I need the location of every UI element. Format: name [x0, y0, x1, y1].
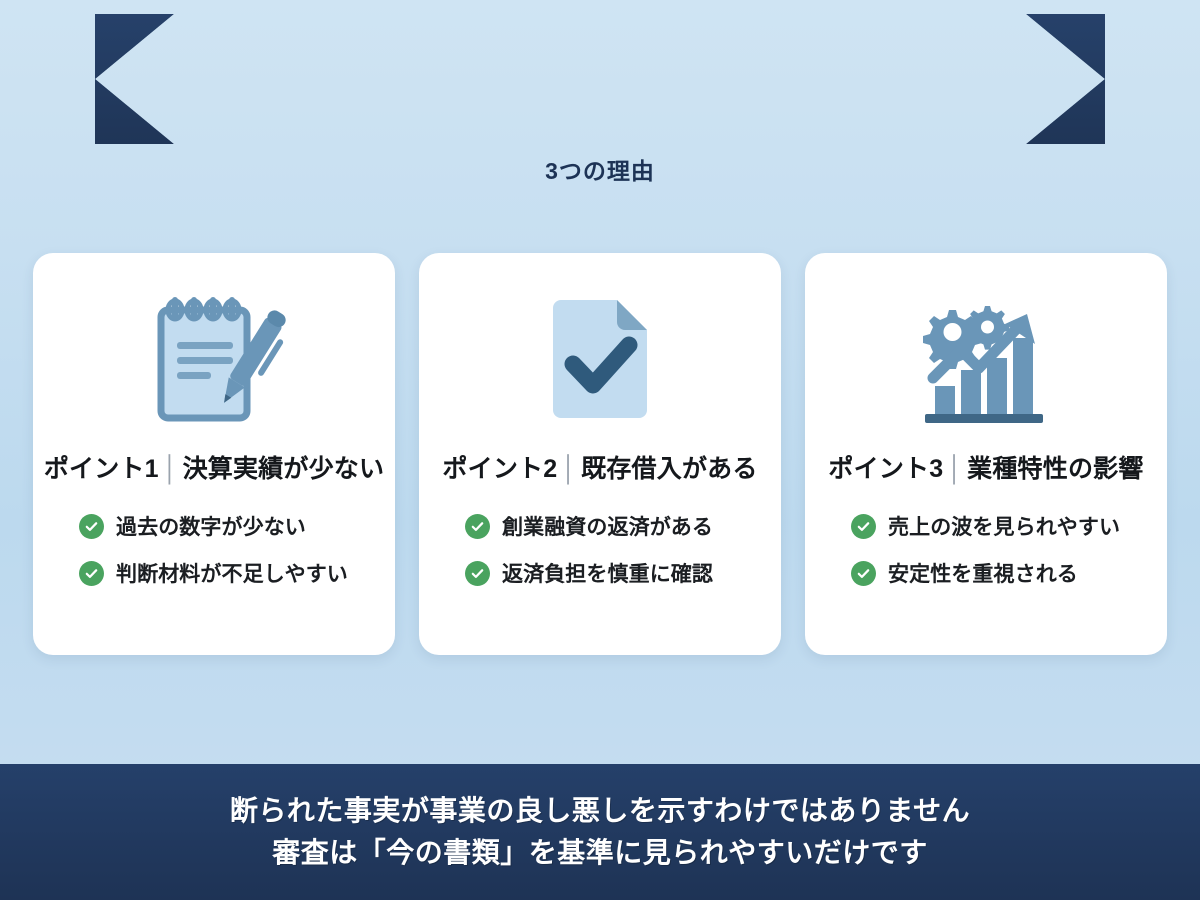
cards-row: ポイント1│決算実績が少ない 過去の数字が少ない 判断材料が不足しやすい: [33, 253, 1167, 655]
check-circle-icon: [465, 561, 490, 586]
list-item: 判断材料が不足しやすい: [79, 558, 377, 588]
card-2-heading: ポイント2│既存借入がある: [442, 449, 757, 485]
card-2-label: ポイント2: [442, 455, 557, 483]
check-circle-icon: [851, 514, 876, 539]
card-point-3: ポイント3│業種特性の影響 売上の波を見られやすい 安定性を重視される: [805, 253, 1167, 655]
title-line-1: 創業したばかりの会社が、: [357, 25, 843, 79]
card-2-title: 既存借入がある: [581, 455, 757, 483]
card-3-separator: │: [943, 455, 967, 483]
card-1-separator: │: [159, 455, 183, 483]
list-item: 安定性を重視される: [851, 558, 1149, 588]
check-circle-icon: [851, 561, 876, 586]
card-1-heading: ポイント1│決算実績が少ない: [44, 449, 384, 485]
footer-line-1: 断られた事実が事業の良し悪しを示すわけではありません: [230, 790, 970, 832]
card-1-title: 決算実績が少ない: [183, 455, 385, 483]
list-item: 返済負担を慎重に確認: [465, 558, 763, 588]
card-1-label: ポイント1: [44, 455, 159, 483]
subtitle: 3つの理由: [0, 152, 1200, 186]
bullet-text: 返済負担を慎重に確認: [502, 558, 713, 588]
document-check-icon: [525, 279, 675, 447]
title-banner: 創業したばかりの会社が、 銀行や信販のローンに通りにくい理由とは: [95, 14, 1105, 144]
title-line-2: 銀行や信販のローンに通りにくい理由とは: [217, 79, 984, 133]
check-circle-icon: [79, 561, 104, 586]
list-item: 創業融資の返済がある: [465, 511, 763, 541]
card-2-bullets: 創業融資の返済がある 返済負担を慎重に確認: [437, 511, 763, 588]
bullet-text: 創業融資の返済がある: [502, 511, 713, 541]
bullet-text: 過去の数字が少ない: [116, 511, 306, 541]
list-item: 売上の波を見られやすい: [851, 511, 1149, 541]
card-3-label: ポイント3: [828, 455, 943, 483]
bullet-text: 売上の波を見られやすい: [888, 511, 1120, 541]
card-2-separator: │: [557, 455, 581, 483]
card-3-heading: ポイント3│業種特性の影響: [828, 449, 1143, 485]
check-circle-icon: [465, 514, 490, 539]
card-3-title: 業種特性の影響: [967, 455, 1143, 483]
card-3-bullets: 売上の波を見られやすい 安定性を重視される: [823, 511, 1149, 588]
bullet-text: 安定性を重視される: [888, 558, 1078, 588]
growth-chart-gears-icon: [911, 279, 1061, 447]
card-1-bullets: 過去の数字が少ない 判断材料が不足しやすい: [51, 511, 377, 588]
card-point-2: ポイント2│既存借入がある 創業融資の返済がある 返済負担を慎重に確認: [419, 253, 781, 655]
bullet-text: 判断材料が不足しやすい: [116, 558, 348, 588]
footer-band: 断られた事実が事業の良し悪しを示すわけではありません 審査は「今の書類」を基準に…: [0, 764, 1200, 900]
infographic-page: 創業したばかりの会社が、 銀行や信販のローンに通りにくい理由とは 3つの理由: [0, 0, 1200, 900]
card-point-1: ポイント1│決算実績が少ない 過去の数字が少ない 判断材料が不足しやすい: [33, 253, 395, 655]
check-circle-icon: [79, 514, 104, 539]
footer-line-2: 審査は「今の書類」を基準に見られやすいだけです: [272, 832, 928, 874]
notepad-pencil-icon: [139, 279, 289, 447]
list-item: 過去の数字が少ない: [79, 511, 377, 541]
